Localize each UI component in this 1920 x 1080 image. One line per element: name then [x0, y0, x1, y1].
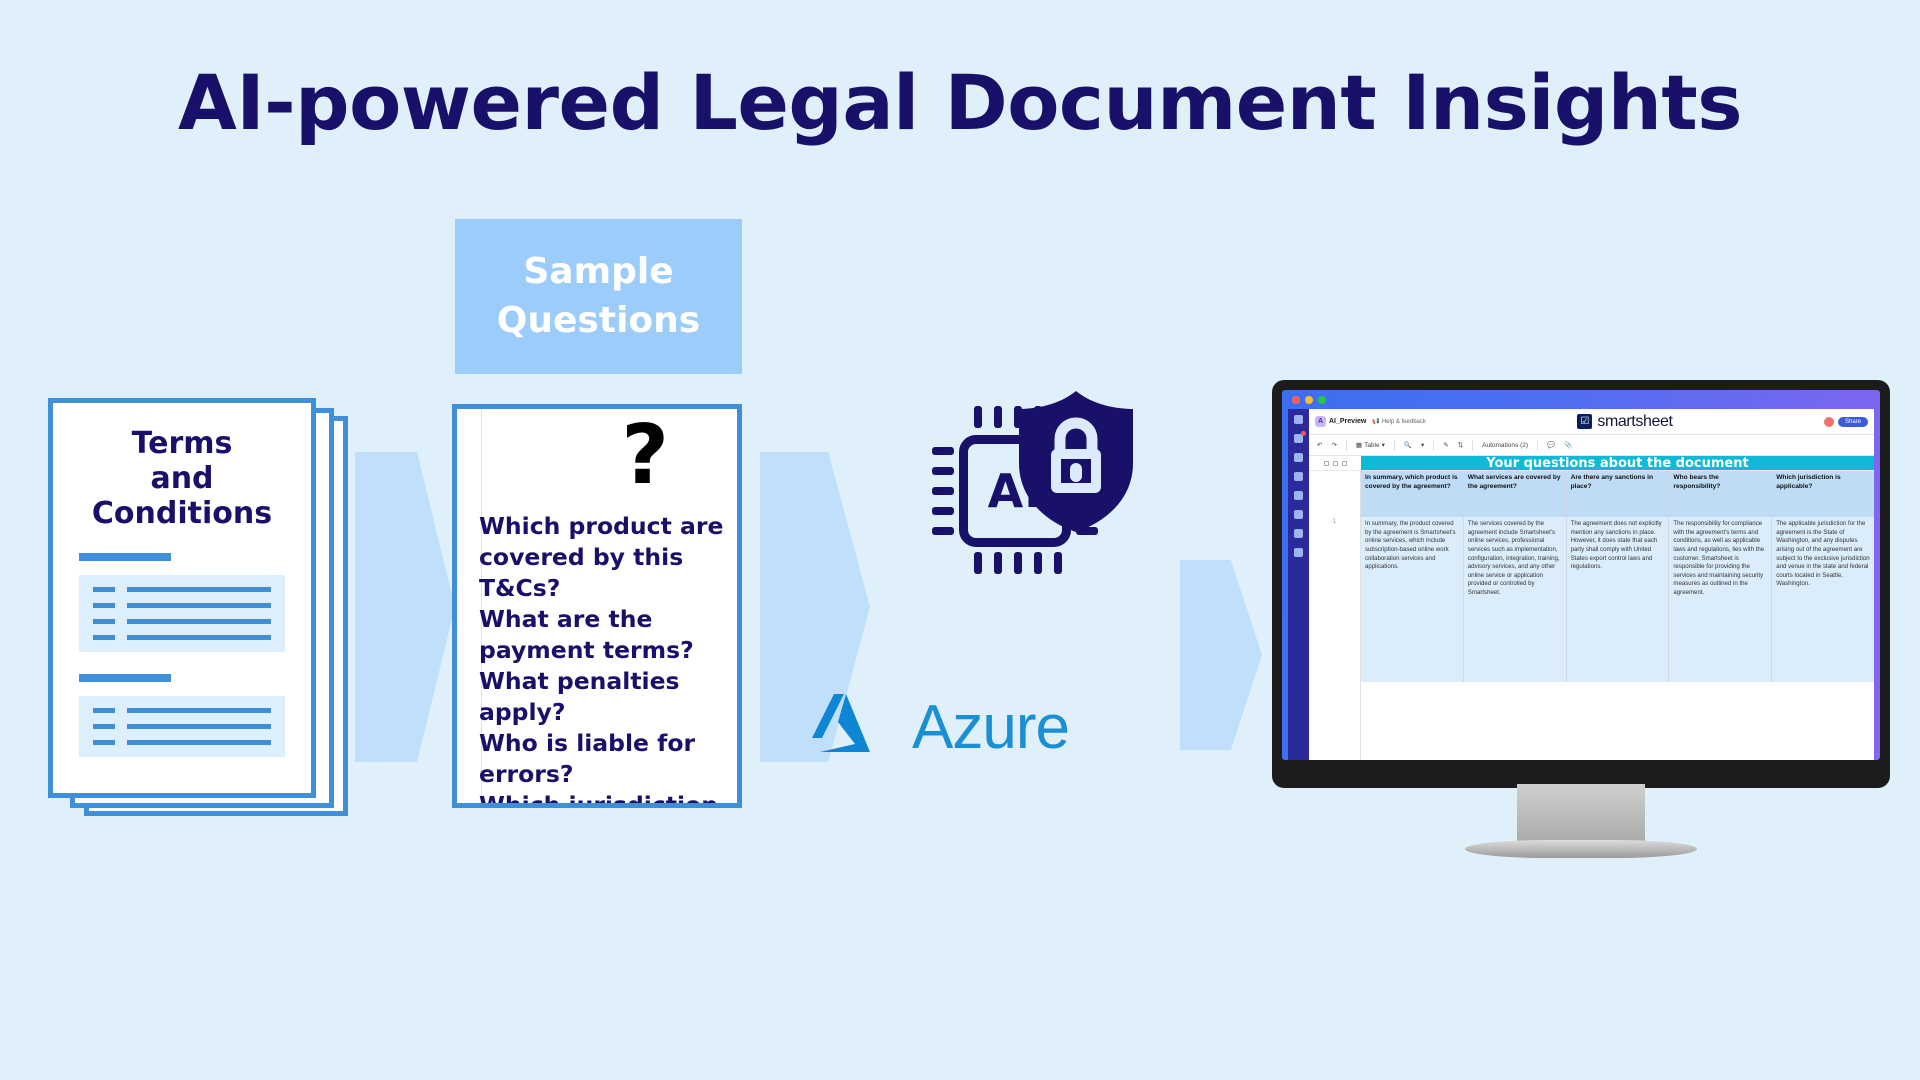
- smartsheet-brand: ☑ smartsheet: [1432, 413, 1818, 431]
- question-item: Which product are covered by this T&Cs?: [479, 511, 727, 604]
- table-row: 1 In summary, the product covered by the…: [1309, 517, 1874, 760]
- app-toolbar: ↶ ↷ ▦ Table ▾ 🔍 ▾ ✎: [1309, 435, 1874, 456]
- question-item: Which jurisdiction apply?: [479, 790, 727, 808]
- notifications-icon[interactable]: [1294, 434, 1303, 443]
- search-icon[interactable]: [1294, 453, 1303, 462]
- chip-pin-bottom: [974, 552, 982, 574]
- view-switcher[interactable]: ▦ Table ▾: [1356, 441, 1385, 449]
- question-item: Who is liable for errors?: [479, 728, 727, 790]
- row-cells: In summary, the product covered by the a…: [1361, 517, 1874, 760]
- document-text-block-2: [79, 696, 285, 757]
- minimize-button[interactable]: [1305, 396, 1313, 404]
- document-title: Terms and Conditions: [53, 427, 311, 531]
- line-bullet: [93, 619, 115, 624]
- attachment-icon[interactable]: 📎: [1564, 441, 1572, 449]
- close-button[interactable]: [1292, 396, 1300, 404]
- megaphone-icon: 📢: [1372, 418, 1379, 425]
- table-cell[interactable]: The agreement does not explicitly mentio…: [1567, 517, 1670, 682]
- column-header[interactable]: Are there any sanctions in place?: [1567, 471, 1670, 517]
- table-icon: ▦: [1356, 441, 1362, 449]
- share-button[interactable]: Share: [1838, 417, 1868, 427]
- favorites-star-icon[interactable]: [1294, 510, 1303, 519]
- monitor-bezel: A AI_Preview 📢 Help & feedback ☑ smartsh…: [1272, 380, 1890, 788]
- azure-logo: Azure: [812, 690, 1122, 764]
- document-line: [93, 740, 271, 745]
- sheet-banner: Your questions about the document: [1361, 456, 1874, 470]
- document-line: [93, 619, 271, 624]
- undo-icon[interactable]: ↶: [1317, 441, 1322, 449]
- window-controls[interactable]: [1292, 396, 1326, 404]
- comment-icon[interactable]: 💬: [1547, 441, 1555, 449]
- line-bullet: [93, 635, 115, 640]
- smartsheet-logo-icon: ☑: [1577, 414, 1592, 429]
- question-item: What penalties apply?: [479, 666, 727, 728]
- table-cell[interactable]: The responsibility for compliance with t…: [1669, 517, 1772, 682]
- azure-mark-icon: [812, 692, 896, 762]
- header-columns: In summary, which product is covered by …: [1361, 471, 1874, 517]
- document-line: [93, 635, 271, 640]
- help-feedback-label: Help & feedback: [1382, 419, 1426, 425]
- row-tools-gutter: [1309, 461, 1361, 466]
- app-main: A AI_Preview 📢 Help & feedback ☑ smartsh…: [1309, 409, 1874, 760]
- row-number: 1: [1309, 517, 1361, 760]
- sample-questions-line2: Questions: [497, 297, 700, 346]
- column-header[interactable]: In summary, which product is covered by …: [1361, 471, 1464, 517]
- line-body: [127, 603, 271, 608]
- chip-pin-left: [932, 447, 954, 455]
- line-body: [127, 708, 271, 713]
- paint-icon[interactable]: ✎: [1443, 441, 1448, 449]
- chevron-down-icon: ▾: [1382, 441, 1385, 449]
- smartsheet-app: A AI_Preview 📢 Help & feedback ☑ smartsh…: [1288, 409, 1874, 760]
- question-mark-icon: ?: [621, 415, 669, 497]
- terms-document-stack: Terms and Conditions: [48, 398, 348, 816]
- comment-column-icon[interactable]: [1324, 461, 1329, 466]
- chip-pin-left: [932, 467, 954, 475]
- chip-pin-left: [932, 507, 954, 515]
- header-gutter: [1309, 471, 1361, 517]
- sheet-grid: Your questions about the document In sum…: [1309, 456, 1874, 760]
- recents-icon[interactable]: [1294, 529, 1303, 538]
- document-rule-2: [79, 674, 171, 682]
- document-line: [93, 587, 271, 592]
- apps-grid-icon[interactable]: [1294, 548, 1303, 557]
- browse-folder-icon[interactable]: [1294, 472, 1303, 481]
- line-bullet: [93, 740, 115, 745]
- document-sheet-front: Terms and Conditions: [48, 398, 316, 798]
- toolbar-divider: [1433, 440, 1434, 451]
- table-cell[interactable]: The services covered by the agreement in…: [1464, 517, 1567, 682]
- line-bullet: [93, 603, 115, 608]
- app-topbar: A AI_Preview 📢 Help & feedback ☑ smartsh…: [1309, 409, 1874, 435]
- toolbar-divider: [1472, 440, 1473, 451]
- document-line: [93, 724, 271, 729]
- document-title-line1: Terms: [53, 427, 311, 462]
- topbar-right: Share: [1824, 417, 1868, 427]
- table-cell[interactable]: In summary, the product covered by the a…: [1361, 517, 1464, 682]
- questions-card: ? Which product are covered by this T&Cs…: [452, 404, 742, 808]
- page-title: AI-powered Legal Document Insights: [0, 58, 1920, 147]
- document-rule-1: [79, 553, 171, 561]
- sort-icon[interactable]: ⇅: [1458, 441, 1463, 449]
- sheet-header-row: In summary, which product is covered by …: [1309, 471, 1874, 517]
- line-body: [127, 635, 271, 640]
- line-body: [127, 619, 271, 624]
- help-feedback-link[interactable]: 📢 Help & feedback: [1372, 418, 1426, 425]
- chip-pin-bottom: [1054, 552, 1062, 574]
- home-icon[interactable]: [1294, 415, 1303, 424]
- document-line: [93, 708, 271, 713]
- shield-lock-icon: [1015, 389, 1137, 534]
- filter-icon[interactable]: ▾: [1421, 441, 1424, 449]
- view-label: Table: [1364, 442, 1380, 449]
- attachment-column-icon[interactable]: [1333, 461, 1338, 466]
- questions-list: Which product are covered by this T&Cs? …: [479, 511, 727, 808]
- document-line: [93, 603, 271, 608]
- line-body: [127, 587, 271, 592]
- chip-pin-left: [932, 527, 954, 535]
- chip-pin-bottom: [1034, 552, 1042, 574]
- sample-questions-line1: Sample: [523, 248, 673, 297]
- monitor-screen: A AI_Preview 📢 Help & feedback ☑ smartsh…: [1282, 390, 1880, 760]
- workspace-name: AI_Preview: [1329, 418, 1366, 425]
- line-body: [127, 724, 271, 729]
- table-cell[interactable]: The applicable jurisdiction for the agre…: [1772, 517, 1874, 682]
- left-nav-rail[interactable]: [1288, 409, 1309, 760]
- azure-wordmark: Azure: [912, 692, 1069, 763]
- document-title-line3: Conditions: [53, 497, 311, 532]
- document-title-line2: and: [53, 462, 311, 497]
- toolbar-divider: [1394, 440, 1395, 451]
- search-icon[interactable]: 🔍: [1404, 441, 1412, 449]
- chip-pin-top: [994, 406, 1002, 428]
- smartsheet-wordmark: smartsheet: [1597, 413, 1672, 431]
- column-header[interactable]: Who bears the responsibility?: [1669, 471, 1772, 517]
- chip-pin-bottom: [1014, 552, 1022, 574]
- monitor: A AI_Preview 📢 Help & feedback ☑ smartsh…: [1272, 380, 1890, 820]
- question-item: What are the payment terms?: [479, 604, 727, 666]
- line-body: [127, 740, 271, 745]
- line-bullet: [93, 587, 115, 592]
- arrow-ai-to-monitor: [1180, 560, 1262, 750]
- document-text-block-1: [79, 575, 285, 652]
- monitor-stand-neck: [1517, 784, 1645, 846]
- column-header[interactable]: Which jurisdiction is applicable?: [1772, 471, 1874, 517]
- maximize-button[interactable]: [1318, 396, 1326, 404]
- toolbar-divider: [1346, 440, 1347, 451]
- proof-column-icon[interactable]: [1342, 461, 1347, 466]
- arrow-docs-to-questions: [355, 452, 455, 762]
- sample-questions-header: Sample Questions: [455, 219, 742, 374]
- toolbar-divider: [1537, 440, 1538, 451]
- workspace-badge: A: [1315, 416, 1326, 427]
- monitor-stand-base: [1465, 840, 1697, 858]
- avatar[interactable]: [1824, 417, 1834, 427]
- workspace-chip[interactable]: A AI_Preview: [1315, 416, 1366, 427]
- chip-pin-left: [932, 487, 954, 495]
- redo-icon[interactable]: ↷: [1331, 441, 1336, 449]
- column-header[interactable]: What services are covered by the agreeme…: [1464, 471, 1567, 517]
- line-bullet: [93, 724, 115, 729]
- settings-gear-icon[interactable]: [1294, 491, 1303, 500]
- chip-pin-top: [974, 406, 982, 428]
- infographic-canvas: AI-powered Legal Document Insights Terms…: [0, 0, 1920, 1080]
- line-bullet: [93, 708, 115, 713]
- sheet-banner-row: Your questions about the document: [1309, 456, 1874, 471]
- automations-button[interactable]: Automations (2): [1482, 442, 1528, 449]
- chip-pin-bottom: [994, 552, 1002, 574]
